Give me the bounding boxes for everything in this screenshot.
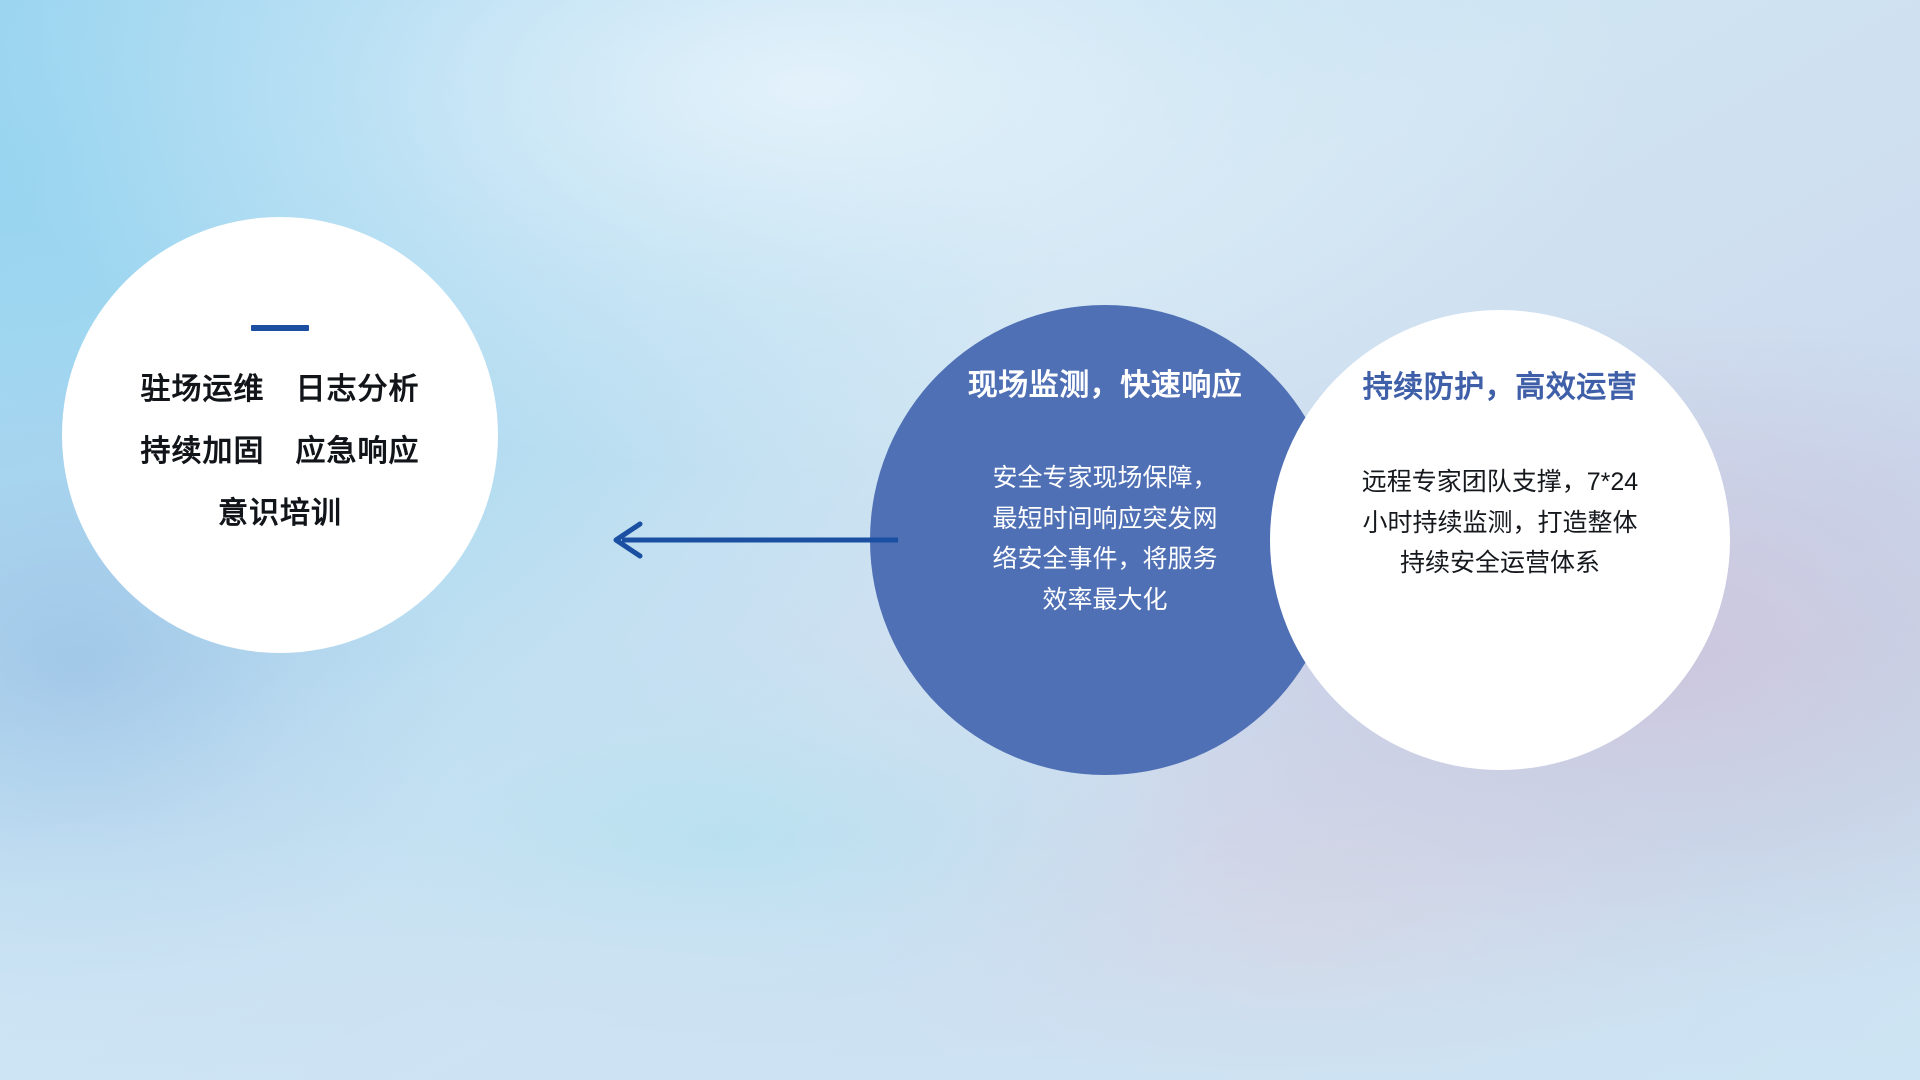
left-service-circle[interactable]: 驻场运维 日志分析 持续加固 应急响应 意识培训 [62, 217, 498, 653]
left-service-line-1: 驻场运维 日志分析 [62, 375, 498, 405]
left-pointing-arrow-icon [600, 518, 900, 562]
slide-canvas: 驻场运维 日志分析 持续加固 应急响应 意识培训 现场监测，快速响应 安全专家现… [0, 0, 1920, 1080]
left-circle-content: 驻场运维 日志分析 持续加固 应急响应 意识培训 [62, 325, 498, 529]
accent-dash-divider [251, 325, 309, 331]
center-body-line-4: 效率最大化 [888, 580, 1322, 621]
left-service-line-2: 持续加固 应急响应 [62, 437, 498, 467]
right-operations-circle[interactable]: 持续防护，高效运营 远程专家团队支撑，7*24 小时持续监测，打造整体 持续安全… [1270, 310, 1730, 770]
center-body-line-3: 络安全事件，将服务 [888, 539, 1322, 580]
center-circle-body: 安全专家现场保障， 最短时间响应突发网 络安全事件，将服务 效率最大化 [888, 458, 1322, 620]
connector-arrow [600, 518, 900, 562]
left-service-line-3: 意识培训 [62, 499, 498, 529]
right-body-line-3: 持续安全运营体系 [1300, 543, 1700, 584]
right-body-line-2: 小时持续监测，打造整体 [1300, 503, 1700, 544]
center-body-line-1: 安全专家现场保障， [888, 458, 1322, 499]
right-body-line-1: 远程专家团队支撑，7*24 [1300, 462, 1700, 503]
right-circle-title: 持续防护，高效运营 [1300, 362, 1700, 406]
right-circle-body: 远程专家团队支撑，7*24 小时持续监测，打造整体 持续安全运营体系 [1300, 462, 1700, 584]
right-circle-content: 持续防护，高效运营 远程专家团队支撑，7*24 小时持续监测，打造整体 持续安全… [1270, 362, 1730, 584]
center-circle-title: 现场监测，快速响应 [888, 360, 1322, 404]
center-body-line-2: 最短时间响应突发网 [888, 499, 1322, 540]
